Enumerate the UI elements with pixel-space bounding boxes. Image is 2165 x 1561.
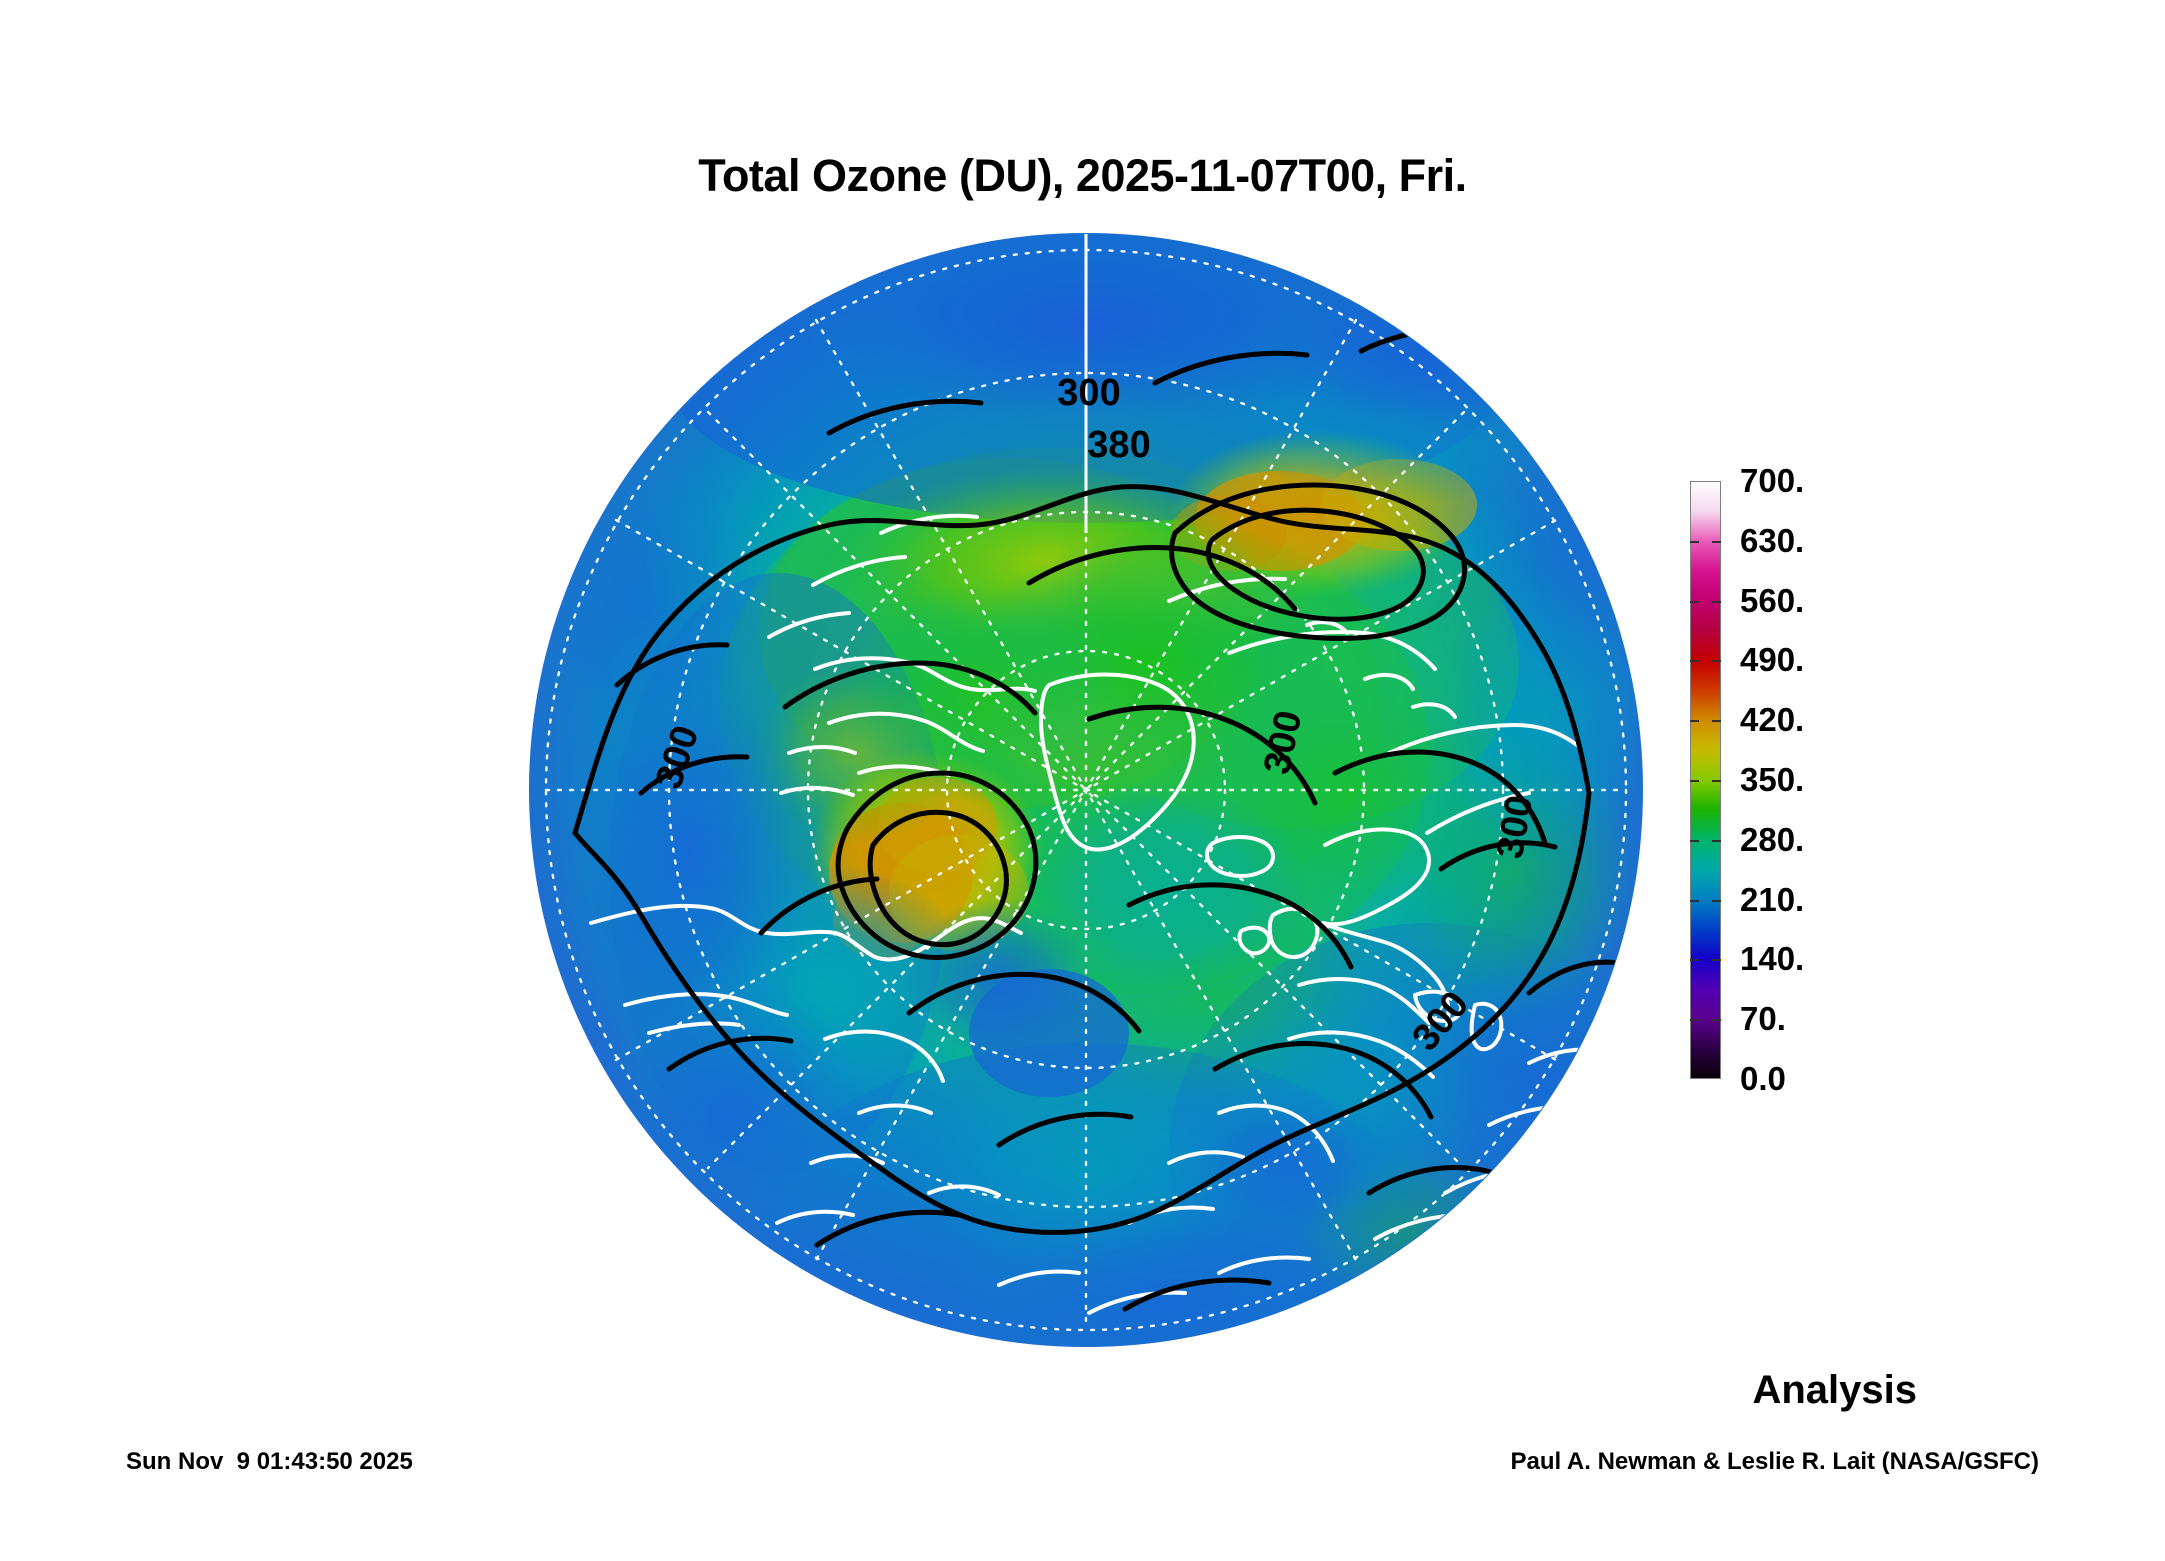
colorbar-tick [1690, 541, 1699, 543]
polar-map[interactable]: 300 380 300 300 300 300 [529, 233, 1643, 1347]
colorbar[interactable] [1690, 481, 1723, 1081]
colorbar-tick [1690, 601, 1699, 603]
generation-timestamp: Sun Nov 9 01:43:50 2025 [126, 1448, 413, 1476]
colorbar-label: 700. [1740, 464, 1804, 497]
colorbar-label: 560. [1740, 584, 1804, 617]
ozone-figure: Total Ozone (DU), 2025-11-07T00, Fri. [0, 0, 2165, 1561]
author-credits: Paul A. Newman & Leslie R. Lait (NASA/GS… [1510, 1448, 2039, 1476]
field-group: 300 380 300 300 300 300 [529, 233, 1643, 1347]
colorbar-tick [1712, 900, 1721, 902]
contour-label-380-top: 380 [1087, 424, 1150, 466]
colorbar-tick [1690, 840, 1699, 842]
page-title: Total Ozone (DU), 2025-11-07T00, Fri. [0, 150, 2165, 202]
colorbar-label: 280. [1740, 823, 1804, 856]
colorbar-tick [1712, 959, 1721, 961]
colorbar-tick [1712, 720, 1721, 722]
colorbar-tick [1712, 1019, 1721, 1021]
colorbar-label: 490. [1740, 643, 1804, 676]
colorbar-tick [1690, 780, 1699, 782]
ozone-field-svg: 300 380 300 300 300 300 [529, 233, 1643, 1347]
colorbar-label: 350. [1740, 763, 1804, 796]
colorbar-tick [1712, 541, 1721, 543]
colorbar-tick [1690, 959, 1699, 961]
globe-disc: 300 380 300 300 300 300 [529, 233, 1643, 1347]
colorbar-tick [1690, 720, 1699, 722]
colorbar-label: 420. [1740, 703, 1804, 736]
colorbar-label: 0.0 [1740, 1062, 1786, 1095]
colorbar-tick [1712, 840, 1721, 842]
colorbar-tick [1712, 601, 1721, 603]
colorbar-label: 140. [1740, 942, 1804, 975]
colorbar-label: 70. [1740, 1002, 1786, 1035]
colorbar-tick [1712, 780, 1721, 782]
colorbar-tick [1690, 660, 1699, 662]
colorbar-tick [1690, 1019, 1699, 1021]
colorbar-tick [1690, 900, 1699, 902]
colorbar-tick [1712, 660, 1721, 662]
analysis-label: Analysis [1752, 1368, 1917, 1413]
colorbar-tick-labels: 700. 630. 560. 490. 420. 350. 280. 210. … [1740, 464, 1920, 1104]
colorbar-label: 210. [1740, 883, 1804, 916]
colorbar-label: 630. [1740, 524, 1804, 557]
contour-label-300-top: 300 [1057, 372, 1120, 414]
